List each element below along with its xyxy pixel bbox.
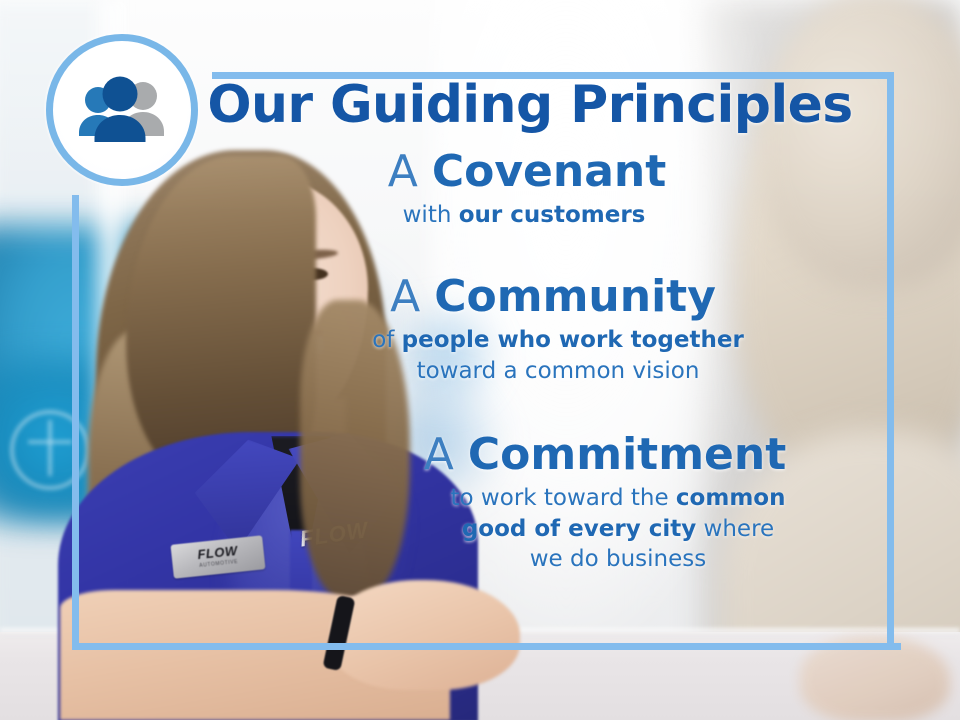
principle-subtext-bold: common [676,485,786,511]
principle-keyword: Community [434,271,716,322]
principle-keyword: Covenant [432,146,666,197]
principle-subtext-regular: with [403,202,459,228]
people-group-icon [70,74,174,146]
subject-clasped-hands [330,580,520,690]
principle-subtext-bold: people who work together [402,327,744,353]
principle-subtext-line2-regular: where [696,516,774,542]
principle-covenant: A Covenant with our customers [200,147,860,231]
banner-text-block: Our Guiding Principles A Covenant with o… [200,78,860,575]
principle-heading: A Covenant [200,147,860,196]
principle-lead-article: A [424,429,454,480]
principle-subtext-regular: of [372,327,401,353]
principle-lead-article: A [388,146,418,197]
principle-subtext: with our customers [200,200,860,230]
principle-lead-article: A [390,271,420,322]
principle-subtext: to work toward the common good of every … [200,483,860,574]
principle-subtext: of people who work together toward a com… [200,325,860,386]
second-person-hand [800,636,950,720]
page-title: Our Guiding Principles [200,78,860,133]
principle-community: A Community of people who work together … [200,272,860,386]
vw-emblem-blur [10,410,90,490]
principle-heading: A Commitment [200,430,860,479]
principle-heading: A Community [200,272,860,321]
guiding-principles-banner: FLOW FLOW AUTOMOTIVE Our [0,0,960,720]
principle-subtext-line2: toward a common vision [417,358,700,384]
principle-subtext-bold: our customers [459,202,646,228]
people-group-icon-badge [46,34,198,186]
principle-commitment: A Commitment to work toward the common g… [200,430,860,574]
principle-keyword: Commitment [468,429,786,480]
principle-subtext-line3: we do business [530,546,707,572]
principle-subtext-regular: to work toward the [451,485,676,511]
principle-subtext-line2-bold: good of every city [462,516,696,542]
